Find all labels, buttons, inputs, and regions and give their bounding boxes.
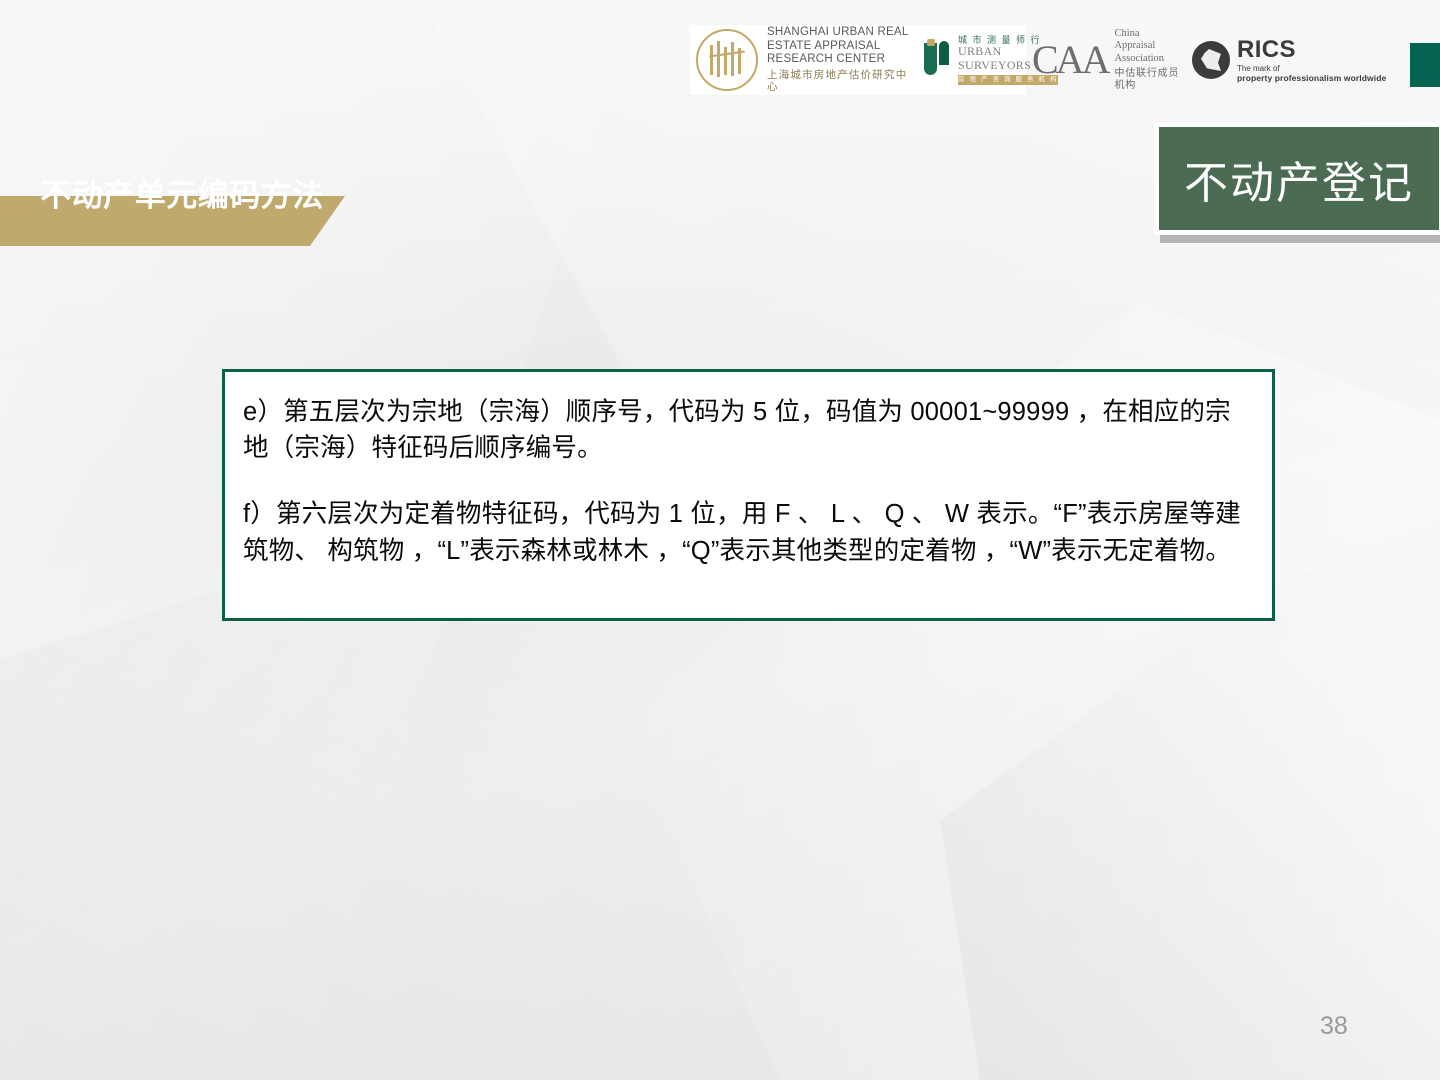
- caa-wordmark-icon: CAA: [1032, 40, 1107, 80]
- logo-shanghai-en-line1: SHANGHAI URBAN REAL: [767, 26, 910, 40]
- page-title: 不动产单元编码方法: [32, 175, 332, 217]
- logo-caa-en-line2: Association: [1114, 53, 1180, 66]
- logo-bar: SHANGHAI URBAN REAL ESTATE APPRAISAL RES…: [690, 24, 1376, 96]
- topic-chip-frame: 不动产登记: [1154, 122, 1440, 235]
- logo-caa-cn: 中估联行成员机构: [1114, 68, 1180, 92]
- logo-rics-text: RICS The mark of property professionalis…: [1237, 37, 1386, 84]
- paragraph-f: f）第六层次为定着物特征码，代码为 1 位，用 F 、 L 、 Q 、 W 表示…: [243, 496, 1252, 568]
- paragraph-e: e）第五层次为宗地（宗海）顺序号，代码为 5 位，码值为 00001~99999…: [243, 394, 1252, 466]
- logo-caa-en-line1: China Appraisal: [1114, 28, 1180, 54]
- page-number: 38: [1320, 1012, 1348, 1041]
- corner-accent-square: [1410, 43, 1440, 87]
- logo-shanghai-cn: 上海城市房地产估价研究中心: [767, 69, 910, 94]
- topic-chip: 不动产登记: [1159, 127, 1439, 230]
- content-box: e）第五层次为宗地（宗海）顺序号，代码为 5 位，码值为 00001~99999…: [222, 369, 1275, 621]
- logo-rics-tagline-line2: property professionalism worldwide: [1237, 74, 1386, 83]
- logo-rics: RICS The mark of property professionalis…: [1186, 25, 1376, 95]
- logo-shanghai-text: SHANGHAI URBAN REAL ESTATE APPRAISAL RES…: [767, 26, 910, 93]
- logo-shanghai-en-line3: RESEARCH CENTER: [767, 53, 910, 67]
- hook-monogram-icon: [922, 39, 952, 81]
- rics-lion-icon: [1192, 41, 1230, 79]
- logo-urban-surveyors: 城 市 测 量 师 行 URBAN SURVEYORS 房 地 产 咨 询 服 …: [916, 25, 1026, 95]
- logo-shanghai-en-line2: ESTATE APPRAISAL: [767, 40, 910, 54]
- topic-chip-label: 不动产登记: [1184, 147, 1414, 211]
- logo-shanghai-urban-real-estate-appraisal-research-center: SHANGHAI URBAN REAL ESTATE APPRAISAL RES…: [690, 25, 916, 95]
- circular-seal-icon: [696, 29, 758, 91]
- logo-china-appraisal-association: CAA China Appraisal Association 中估联行成员机构: [1026, 25, 1186, 95]
- logo-caa-text: China Appraisal Association 中估联行成员机构: [1114, 28, 1180, 93]
- presentation-slide: SHANGHAI URBAN REAL ESTATE APPRAISAL RES…: [0, 0, 1440, 1080]
- logo-rics-wordmark: RICS: [1237, 37, 1386, 63]
